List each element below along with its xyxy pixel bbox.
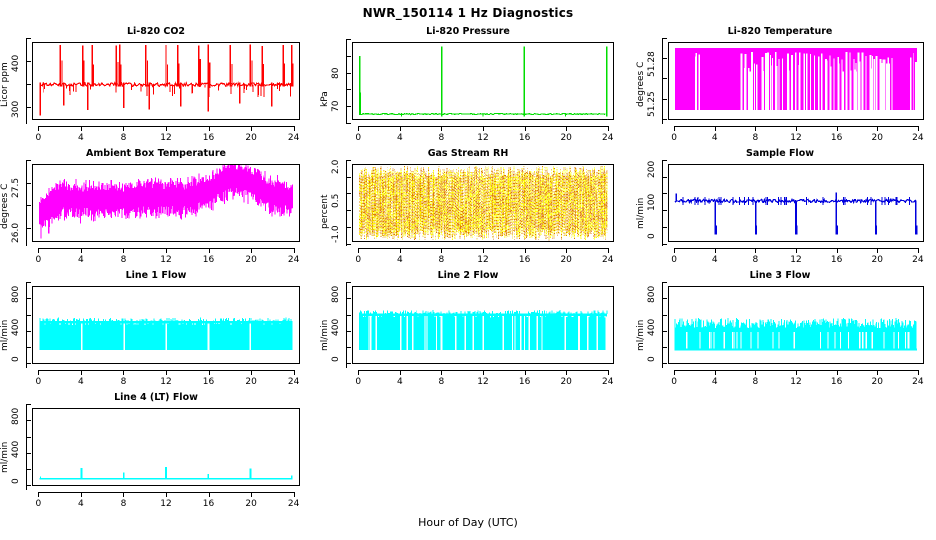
x-axis-tick [358, 370, 359, 375]
x-tick-label: 24 [594, 377, 622, 387]
y-axis-label: percent [320, 177, 330, 229]
x-axis-tick [38, 248, 39, 253]
y-tick-label: 200 [646, 153, 658, 185]
x-axis-tick [81, 370, 82, 375]
x-axis-tick [209, 492, 210, 497]
y-tick-label: 70 [330, 90, 342, 122]
x-axis-tick [294, 126, 295, 131]
y-axis-tick [26, 469, 31, 470]
x-tick-label: 16 [195, 377, 223, 387]
plot-box [668, 164, 924, 242]
diagnostics-figure: NWR_150114 1 Hz Diagnostics Hour of Day … [0, 0, 936, 540]
panel-title: Line 4 (LT) Flow [0, 392, 312, 403]
x-tick-label: 24 [904, 133, 932, 143]
x-axis-tick [608, 370, 609, 375]
y-axis-tick [346, 210, 351, 211]
x-tick-label: 16 [195, 133, 223, 143]
x-axis-tick [608, 248, 609, 253]
y-axis-tick [26, 282, 31, 283]
y-axis-line [346, 39, 347, 124]
x-tick-label: 24 [594, 255, 622, 265]
y-axis-tick [662, 160, 667, 161]
panel-title: Gas Stream RH [312, 148, 624, 159]
x-tick-label: 0 [24, 255, 52, 265]
x-tick-label: 12 [469, 377, 497, 387]
plot-area [33, 409, 299, 485]
x-axis-tick [608, 126, 609, 131]
x-axis-tick [483, 370, 484, 375]
y-axis-tick [26, 205, 31, 206]
x-axis-tick [483, 126, 484, 131]
x-tick-label: 24 [904, 255, 932, 265]
x-axis-tick [715, 370, 716, 375]
y-axis-tick [346, 282, 351, 283]
panel-title: Li-820 CO2 [0, 26, 312, 37]
x-axis-tick [441, 370, 442, 375]
panel-title: Li-820 Pressure [312, 26, 624, 37]
y-axis-tick [26, 107, 31, 108]
x-tick-label: 12 [469, 255, 497, 265]
y-axis-line [26, 404, 27, 490]
figure-xaxis-label: Hour of Day (UTC) [0, 516, 936, 529]
y-tick-label: 2.0 [330, 151, 342, 183]
x-axis-tick [525, 370, 526, 375]
x-tick-label: 12 [152, 377, 180, 387]
x-axis-tick [166, 492, 167, 497]
y-axis-label: ml/min [0, 421, 10, 473]
x-tick-label: 8 [427, 133, 455, 143]
x-axis-tick [294, 248, 295, 253]
y-axis-tick [26, 420, 31, 421]
x-tick-label: 16 [823, 255, 851, 265]
y-axis-tick [662, 331, 667, 332]
x-axis-tick [400, 370, 401, 375]
x-axis-tick [918, 370, 919, 375]
y-axis-tick [662, 78, 667, 79]
x-axis-tick [674, 370, 675, 375]
y-tick-label: 400 [330, 311, 342, 343]
x-tick-label: 20 [863, 377, 891, 387]
x-tick-label: 20 [552, 377, 580, 387]
x-axis-tick [166, 126, 167, 131]
x-tick-label: 20 [237, 377, 265, 387]
x-tick-label: 4 [386, 255, 414, 265]
y-axis-tick [26, 485, 31, 486]
x-tick-label: 20 [863, 255, 891, 265]
x-tick-label: 0 [24, 133, 52, 143]
x-axis-tick [837, 126, 838, 131]
y-axis-tick [346, 56, 351, 57]
panel-title: Li-820 Temperature [624, 26, 936, 37]
y-axis-tick [662, 363, 667, 364]
y-axis-tick [346, 89, 351, 90]
plot-box [32, 164, 300, 242]
x-axis-tick [755, 248, 756, 253]
y-tick-label: 51.28 [646, 48, 658, 80]
x-axis-tick [123, 126, 124, 131]
x-axis-tick [566, 370, 567, 375]
plot-area [33, 43, 299, 119]
x-tick-label: 4 [67, 255, 95, 265]
y-axis-tick [346, 160, 351, 161]
y-axis-label: kPa [320, 55, 330, 107]
y-tick-label: 400 [10, 47, 22, 79]
x-tick-label: 8 [427, 255, 455, 265]
x-tick-label: 0 [660, 255, 688, 265]
x-axis-tick [38, 126, 39, 131]
x-tick-label: 8 [427, 377, 455, 387]
y-axis-tick [346, 315, 351, 316]
x-axis-tick [796, 126, 797, 131]
y-axis-tick [662, 99, 667, 100]
x-tick-label: 0 [660, 133, 688, 143]
y-axis-tick [346, 106, 351, 107]
x-tick-label: 20 [237, 499, 265, 509]
x-tick-label: 0 [344, 133, 372, 143]
x-axis-tick [81, 126, 82, 131]
y-axis-line [662, 38, 663, 124]
x-tick-label: 4 [386, 377, 414, 387]
x-tick-label: 4 [67, 377, 95, 387]
y-axis-tick [346, 298, 351, 299]
y-axis-tick [662, 298, 667, 299]
x-tick-label: 24 [594, 133, 622, 143]
figure-title: NWR_150114 1 Hz Diagnostics [0, 6, 936, 20]
y-axis-tick [26, 84, 31, 85]
x-tick-label: 20 [863, 133, 891, 143]
x-axis-tick [251, 370, 252, 375]
y-axis-tick [662, 193, 667, 194]
plot-area [353, 287, 613, 363]
y-axis-tick [346, 363, 351, 364]
x-tick-label: 12 [782, 133, 810, 143]
x-tick-label: 20 [237, 133, 265, 143]
x-tick-label: 12 [782, 255, 810, 265]
x-axis-tick [38, 370, 39, 375]
x-tick-label: 16 [195, 499, 223, 509]
plot-box [352, 164, 614, 242]
x-tick-label: 0 [344, 377, 372, 387]
y-tick-label: 400 [646, 311, 658, 343]
x-tick-label: 12 [152, 255, 180, 265]
y-axis-tick [26, 61, 31, 62]
plot-area [353, 43, 613, 119]
plot-box [668, 286, 924, 364]
x-axis-tick [877, 248, 878, 253]
x-tick-label: 16 [823, 133, 851, 143]
plot-area [669, 165, 923, 241]
y-axis-line [26, 160, 27, 246]
y-axis-line [26, 282, 27, 368]
x-tick-label: 24 [280, 377, 308, 387]
x-axis-tick [294, 370, 295, 375]
plot-area [669, 43, 923, 119]
y-axis-tick [26, 404, 31, 405]
y-axis-line [26, 38, 27, 124]
x-tick-label: 16 [511, 133, 539, 143]
x-tick-label: 24 [280, 499, 308, 509]
plot-box [352, 42, 614, 120]
y-tick-label: 400 [10, 433, 22, 465]
x-tick-label: 16 [511, 377, 539, 387]
x-axis-tick [81, 492, 82, 497]
x-axis-tick [251, 126, 252, 131]
y-tick-label: 26.0 [10, 217, 22, 249]
y-tick-label: 0.5 [330, 185, 342, 217]
y-axis-tick [346, 227, 351, 228]
y-axis-tick [662, 58, 667, 59]
x-axis-tick [877, 126, 878, 131]
x-axis-tick [918, 248, 919, 253]
y-axis-tick [662, 347, 667, 348]
y-axis-tick [346, 123, 351, 124]
x-axis-tick [837, 248, 838, 253]
x-tick-label: 8 [109, 377, 137, 387]
y-tick-label: 0 [10, 343, 22, 375]
y-axis-tick [662, 177, 667, 178]
x-axis-tick [796, 248, 797, 253]
plot-box [668, 42, 924, 120]
y-axis-tick [26, 38, 31, 39]
x-tick-label: 0 [24, 499, 52, 509]
x-tick-label: 4 [67, 499, 95, 509]
x-axis-tick [209, 370, 210, 375]
x-axis-tick [715, 126, 716, 131]
plot-area [353, 165, 613, 241]
y-axis-tick [26, 347, 31, 348]
plot-box [352, 286, 614, 364]
x-axis-tick [123, 248, 124, 253]
y-axis-tick [346, 331, 351, 332]
plot-box [32, 408, 300, 486]
y-axis-tick [662, 282, 667, 283]
x-tick-label: 16 [511, 255, 539, 265]
y-axis-label: ml/min [636, 299, 646, 351]
y-tick-label: -1.0 [330, 218, 342, 250]
y-axis-tick [346, 177, 351, 178]
y-axis-tick [26, 315, 31, 316]
x-axis-tick [525, 126, 526, 131]
x-axis-tick [166, 370, 167, 375]
x-tick-label: 24 [280, 255, 308, 265]
plot-area [33, 165, 299, 241]
x-axis-tick [755, 126, 756, 131]
x-tick-label: 20 [552, 133, 580, 143]
y-axis-tick [346, 39, 351, 40]
y-axis-label: degrees C [636, 55, 646, 107]
y-axis-tick [662, 227, 667, 228]
y-tick-label: 800 [330, 278, 342, 310]
y-tick-label: 800 [646, 278, 658, 310]
plot-area [33, 287, 299, 363]
x-tick-label: 4 [701, 255, 729, 265]
panel-title: Line 3 Flow [624, 270, 936, 281]
y-tick-label: 0 [646, 343, 658, 375]
x-tick-label: 12 [469, 133, 497, 143]
x-tick-label: 8 [109, 499, 137, 509]
x-tick-label: 24 [904, 377, 932, 387]
plot-box [32, 286, 300, 364]
x-tick-label: 4 [386, 133, 414, 143]
y-axis-tick [662, 38, 667, 39]
x-tick-label: 0 [24, 377, 52, 387]
x-tick-label: 8 [741, 255, 769, 265]
y-tick-label: 0 [330, 343, 342, 375]
y-axis-tick [346, 347, 351, 348]
x-axis-tick [209, 248, 210, 253]
x-tick-label: 8 [109, 133, 137, 143]
x-axis-tick [441, 126, 442, 131]
x-axis-tick [294, 492, 295, 497]
x-axis-tick [566, 126, 567, 131]
x-tick-label: 0 [660, 377, 688, 387]
y-tick-label: 300 [10, 93, 22, 125]
x-axis-tick [400, 126, 401, 131]
y-axis-label: ml/min [636, 177, 646, 229]
y-axis-label: ml/min [320, 299, 330, 351]
x-axis-tick [123, 370, 124, 375]
plot-box [32, 42, 300, 120]
y-tick-label: 80 [330, 57, 342, 89]
x-axis-tick [358, 248, 359, 253]
y-axis-line [662, 160, 663, 246]
y-axis-tick [26, 228, 31, 229]
x-axis-tick [918, 126, 919, 131]
x-tick-label: 12 [152, 133, 180, 143]
y-axis-tick [26, 160, 31, 161]
y-axis-tick [346, 244, 351, 245]
x-axis-tick [358, 126, 359, 131]
x-axis-tick [877, 370, 878, 375]
y-tick-label: 0 [646, 220, 658, 252]
y-axis-tick [662, 315, 667, 316]
x-tick-label: 4 [67, 133, 95, 143]
y-axis-tick [662, 119, 667, 120]
y-axis-line [662, 282, 663, 368]
y-axis-label: Licor ppm [0, 55, 10, 107]
x-axis-tick [755, 370, 756, 375]
y-axis-label: ml/min [0, 299, 10, 351]
y-tick-label: 0 [10, 465, 22, 497]
y-axis-line [346, 282, 347, 368]
x-axis-tick [674, 248, 675, 253]
x-axis-tick [251, 492, 252, 497]
y-axis-tick [346, 73, 351, 74]
x-axis-tick [166, 248, 167, 253]
x-tick-label: 8 [741, 133, 769, 143]
x-axis-tick [566, 248, 567, 253]
panel-title: Line 1 Flow [0, 270, 312, 281]
y-axis-tick [26, 331, 31, 332]
y-tick-label: 800 [10, 278, 22, 310]
x-tick-label: 20 [552, 255, 580, 265]
x-tick-label: 16 [823, 377, 851, 387]
x-tick-label: 12 [152, 499, 180, 509]
y-axis-tick [26, 183, 31, 184]
x-axis-tick [715, 248, 716, 253]
panel-title: Line 2 Flow [312, 270, 624, 281]
x-axis-tick [441, 248, 442, 253]
x-tick-label: 4 [701, 133, 729, 143]
y-axis-tick [662, 244, 667, 245]
x-axis-tick [81, 248, 82, 253]
y-tick-label: 800 [10, 400, 22, 432]
x-axis-tick [123, 492, 124, 497]
y-tick-label: 51.25 [646, 88, 658, 120]
x-tick-label: 8 [741, 377, 769, 387]
y-tick-label: 27.5 [10, 172, 22, 204]
x-axis-tick [674, 126, 675, 131]
y-axis-tick [26, 453, 31, 454]
x-tick-label: 24 [280, 133, 308, 143]
y-axis-tick [26, 298, 31, 299]
x-tick-label: 4 [701, 377, 729, 387]
y-axis-tick [346, 193, 351, 194]
panel-title: Sample Flow [624, 148, 936, 159]
y-axis-label: degrees C [0, 177, 10, 229]
y-axis-tick [662, 210, 667, 211]
x-axis-tick [209, 126, 210, 131]
panel-title: Ambient Box Temperature [0, 148, 312, 159]
x-tick-label: 0 [344, 255, 372, 265]
y-tick-label: 100 [646, 186, 658, 218]
x-tick-label: 12 [782, 377, 810, 387]
y-axis-line [346, 160, 347, 246]
y-tick-label: 400 [10, 311, 22, 343]
x-tick-label: 8 [109, 255, 137, 265]
x-axis-tick [483, 248, 484, 253]
x-tick-label: 16 [195, 255, 223, 265]
x-axis-tick [796, 370, 797, 375]
y-axis-tick [26, 437, 31, 438]
x-axis-tick [38, 492, 39, 497]
y-axis-tick [26, 363, 31, 364]
x-axis-tick [525, 248, 526, 253]
x-axis-tick [400, 248, 401, 253]
plot-area [669, 287, 923, 363]
x-axis-tick [837, 370, 838, 375]
x-tick-label: 20 [237, 255, 265, 265]
x-axis-tick [251, 248, 252, 253]
